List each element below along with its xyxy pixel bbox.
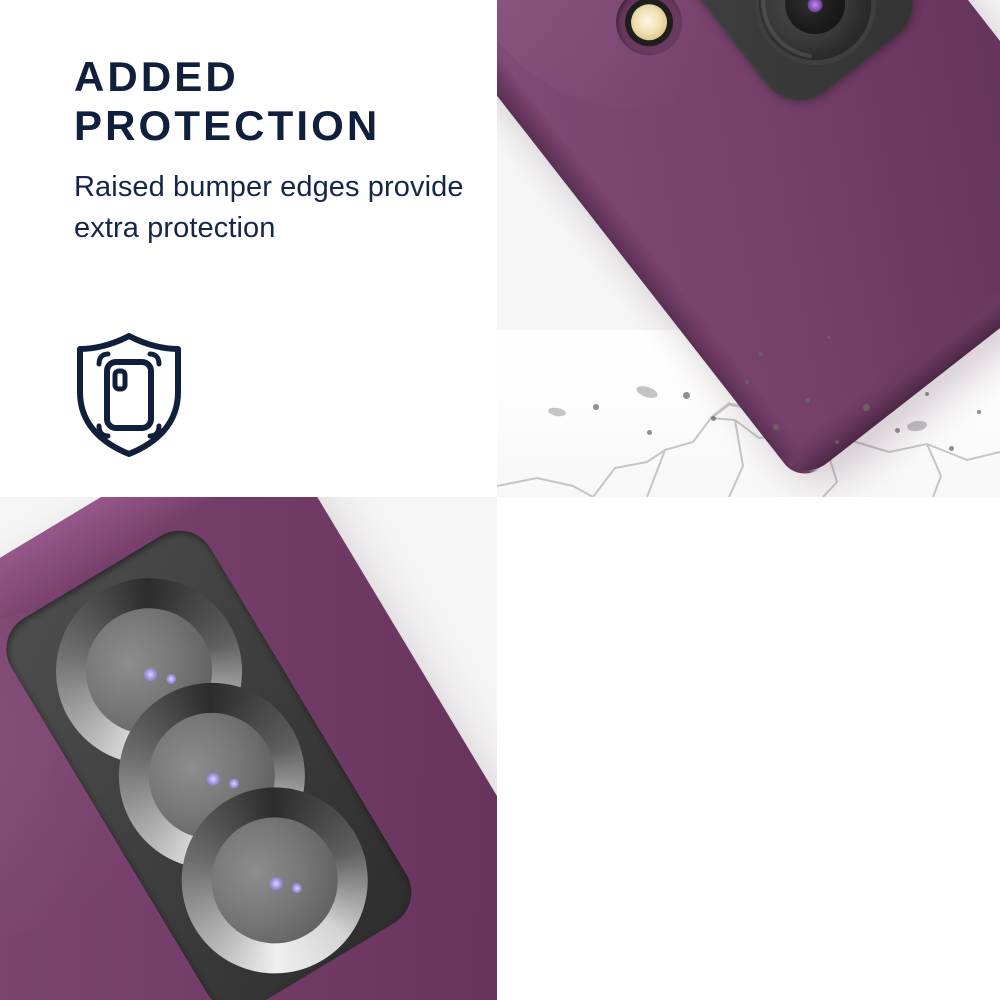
camera-closeup-scene (0, 497, 497, 1000)
debris-speck (925, 392, 929, 396)
debris-speck (683, 392, 690, 399)
headline-line-2: PROTECTION (74, 102, 380, 149)
panel-protects-camera: PROTECTS CAMERA Raised edges protect cam… (497, 497, 1000, 1000)
product-photo-impact (497, 0, 1000, 497)
debris-speck (647, 430, 652, 435)
debris-speck (773, 424, 779, 430)
debris-speck (863, 404, 870, 411)
debris-speck (759, 352, 763, 356)
panel-added-protection: ADDED PROTECTION Raised bumper edges pro… (0, 0, 497, 497)
debris-speck (895, 428, 900, 433)
debris-speck (711, 416, 716, 421)
lens-arc (738, 0, 898, 82)
debris-speck (977, 410, 981, 414)
page-title: ADDED PROTECTION (74, 52, 474, 150)
debris-speck (805, 398, 810, 403)
debris-speck (593, 404, 599, 410)
product-feature-collage: ADDED PROTECTION Raised bumper edges pro… (0, 0, 1000, 1000)
feature-text-block-added-protection: ADDED PROTECTION Raised bumper edges pro… (74, 52, 474, 249)
lens-glint (804, 0, 825, 15)
headline-line-1: ADDED (74, 53, 239, 100)
feature-body-text: Raised bumper edges provide extra protec… (74, 150, 474, 249)
debris-speck (835, 440, 839, 444)
debris-speck (827, 336, 830, 339)
camera-lens-3 (729, 0, 900, 90)
debris-speck (949, 446, 954, 451)
product-photo-camera (0, 497, 497, 1000)
debris-speck (745, 380, 749, 384)
phone-case-closeup (0, 497, 497, 1000)
shield-phone-icon (70, 330, 188, 465)
impact-scene (497, 0, 1000, 497)
